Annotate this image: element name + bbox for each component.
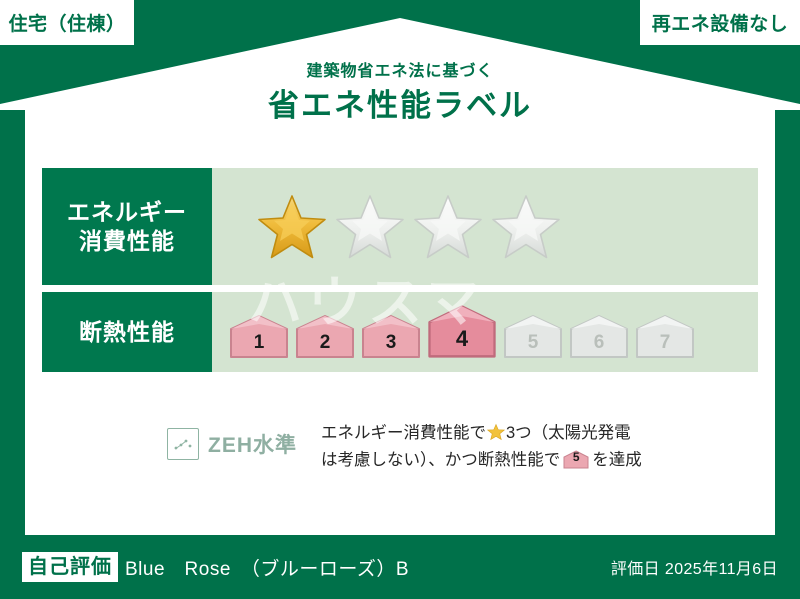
insulation-grade-value: 6 (568, 332, 630, 354)
evaluation-type-badge: 自己評価 (22, 552, 118, 582)
insulation-grade-value: 4 (426, 326, 498, 352)
zeh-description: エネルギー消費性能で3つ（太陽光発電は考慮しない）、かつ断熱性能で5を達成 (321, 420, 642, 473)
insulation-grade-chip: 1 (228, 314, 290, 360)
insulation-grade-scale: 1234567 (228, 304, 696, 360)
inline-star-icon (487, 423, 505, 441)
energy-performance-label: 住宅（住棟） 再エネ設備なし 建築物省エネ法に基づく 省エネ性能ラベル ハウスマ… (0, 0, 800, 599)
insulation-grade-value: 5 (502, 332, 564, 354)
zeh-mark: ZEH水準 (167, 428, 297, 460)
insulation-grade-chip: 4 (426, 304, 498, 360)
zeh-section: ZEH水準 エネルギー消費性能で3つ（太陽光発電は考慮しない）、かつ断熱性能で5… (42, 420, 758, 473)
inline-grade-chip-value: 5 (563, 448, 589, 467)
evaluation-date: 評価日 2025年11月6日 (611, 555, 778, 579)
star-empty-icon (490, 192, 562, 262)
property-name: Blue Rose （ブルーローズ）B (125, 554, 409, 581)
insulation-grade-chip: 2 (294, 314, 356, 360)
title-subtitle: 建築物省エネ法に基づく (0, 62, 800, 81)
row-insulation-label: 断熱性能 (42, 292, 212, 372)
footer-bar: 自己評価 Blue Rose （ブルーローズ）B 評価日 2025年11月6日 (0, 535, 800, 599)
insulation-grade-value: 1 (228, 332, 290, 354)
zeh-label: ZEH水準 (208, 429, 297, 459)
zeh-desc-part3: を達成 (592, 451, 642, 469)
row-insulation-performance: 断熱性能 1234567 (42, 292, 758, 372)
star-empty-icon (412, 192, 484, 262)
row-energy-label-line2: 消費性能 (79, 227, 175, 256)
insulation-grade-value: 7 (634, 332, 696, 354)
star-filled-icon (256, 192, 328, 262)
page-title: 省エネ性能ラベル (0, 87, 800, 124)
insulation-grade-chip: 3 (360, 314, 422, 360)
zeh-desc-stars: 3つ（太陽光発電 (506, 424, 631, 442)
insulation-grade-chip: 6 (568, 314, 630, 360)
zeh-dots-icon (167, 428, 199, 460)
badge-renewable-energy: 再エネ設備なし (640, 0, 800, 45)
insulation-grade-value: 2 (294, 332, 356, 354)
inline-grade-chip: 5 (563, 450, 589, 469)
row-insulation-label-line1: 断熱性能 (79, 318, 175, 347)
insulation-grade-value: 3 (360, 332, 422, 354)
row-energy-label: エネルギー 消費性能 (42, 168, 212, 285)
insulation-grade-chip: 5 (502, 314, 564, 360)
row-energy-content (212, 168, 758, 285)
title-block: 建築物省エネ法に基づく 省エネ性能ラベル (0, 62, 800, 124)
badge-building-type: 住宅（住棟） (0, 0, 134, 45)
row-insulation-content: 1234567 (212, 292, 758, 372)
zeh-desc-part2: は考慮しない）、かつ断熱性能で (321, 451, 560, 469)
footer-left-group: 自己評価 Blue Rose （ブルーローズ）B (22, 552, 409, 582)
star-rating (256, 192, 562, 262)
row-energy-performance: エネルギー 消費性能 (42, 168, 758, 285)
zeh-desc-part1: エネルギー消費性能で (321, 424, 486, 442)
row-energy-label-line1: エネルギー (67, 198, 187, 227)
star-empty-icon (334, 192, 406, 262)
insulation-grade-chip: 7 (634, 314, 696, 360)
